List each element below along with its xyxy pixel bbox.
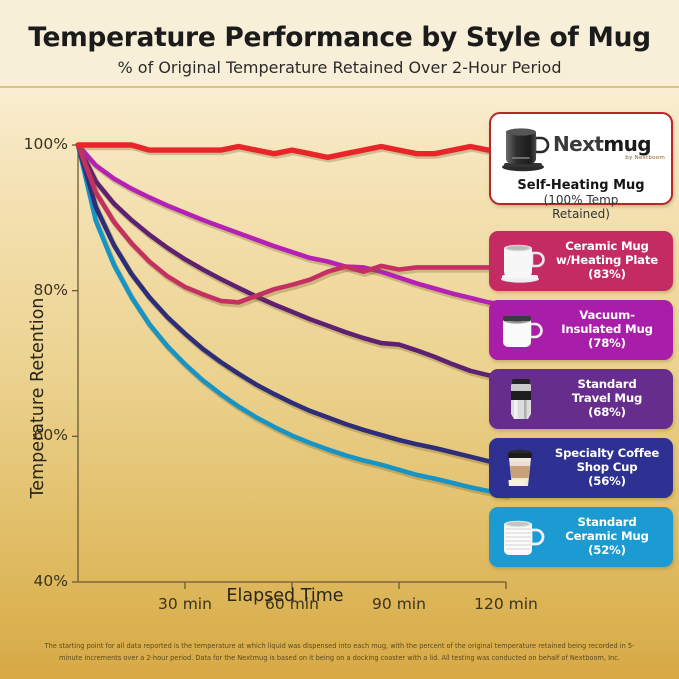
legend-pct-3: (56%) <box>548 475 666 489</box>
nextmug-wordmark: Nextmug <box>553 134 665 154</box>
legend-pct-0: (83%) <box>548 268 666 282</box>
legend-item-nextmug[interactable]: Nextmug by Nextboom Self-Heating Mug (10… <box>489 112 673 205</box>
legend-panel: Nextmug by Nextboom Self-Heating Mug (10… <box>489 112 673 576</box>
x-axis-title: Elapsed Time <box>60 586 510 606</box>
series-line-1 <box>78 145 506 302</box>
y-axis-title: Temperature Retention <box>28 288 48 508</box>
legend-line1-4: Standard <box>548 516 666 530</box>
paper-coffee-cup-icon <box>496 444 548 492</box>
page-subtitle: % of Original Temperature Retained Over … <box>0 58 679 77</box>
legend-line1-0: Ceramic Mug <box>548 240 666 254</box>
series-line-3 <box>78 145 506 378</box>
legend-line2-4: Ceramic Mug <box>548 530 666 544</box>
black-self-heating-mug-icon <box>497 119 553 175</box>
chart-series-lines <box>78 145 508 497</box>
legend-chip-list: Ceramic Mugw/Heating Plate(83%) Vacuum-I… <box>489 231 673 567</box>
legend-item-1[interactable]: Vacuum-Insulated Mug(78%) <box>489 300 673 360</box>
legend-label-4: StandardCeramic Mug(52%) <box>548 516 666 557</box>
ribbed-ceramic-mug-icon <box>496 513 548 561</box>
legend-line1-3: Specialty Coffee <box>548 447 666 461</box>
legend-label-0: Ceramic Mugw/Heating Plate(83%) <box>548 240 666 281</box>
white-ceramic-mug-on-plate-icon <box>496 237 548 285</box>
header-banner: Temperature Performance by Style of Mug … <box>0 0 679 88</box>
legend-pct-1: (78%) <box>548 337 666 351</box>
y-tick-100: 100% <box>0 135 68 153</box>
legend-line2-1: Insulated Mug <box>548 323 666 337</box>
vacuum-insulated-mug-icon <box>496 306 548 354</box>
legend-line2-3: Shop Cup <box>548 461 666 475</box>
legend-line1-1: Vacuum- <box>548 309 666 323</box>
legend-item-2[interactable]: StandardTravel Mug(68%) <box>489 369 673 429</box>
y-tick-40: 40% <box>0 572 68 590</box>
series-line-2 <box>78 145 506 305</box>
legend-label-nextmug: Self-Heating Mug <box>517 178 644 193</box>
chart-axes <box>72 145 506 589</box>
legend-item-0[interactable]: Ceramic Mugw/Heating Plate(83%) <box>489 231 673 291</box>
footnote-text: The starting point for all data reported… <box>34 640 645 664</box>
legend-sub-nextmug-line2: Retained) <box>552 208 610 221</box>
legend-line2-2: Travel Mug <box>548 392 666 406</box>
infographic-root: Temperature Performance by Style of Mug … <box>0 0 679 679</box>
legend-item-4[interactable]: StandardCeramic Mug(52%) <box>489 507 673 567</box>
legend-line1-2: Standard <box>548 378 666 392</box>
legend-pct-4: (52%) <box>548 544 666 558</box>
legend-item-3[interactable]: Specialty CoffeeShop Cup(56%) <box>489 438 673 498</box>
legend-pct-2: (68%) <box>548 406 666 420</box>
legend-label-3: Specialty CoffeeShop Cup(56%) <box>548 447 666 488</box>
legend-line2-0: w/Heating Plate <box>548 254 666 268</box>
legend-label-1: Vacuum-Insulated Mug(78%) <box>548 309 666 350</box>
legend-sub-nextmug-line1: (100% Temp <box>544 194 619 207</box>
steel-travel-mug-icon <box>496 375 548 423</box>
page-title: Temperature Performance by Style of Mug <box>0 22 679 53</box>
legend-label-2: StandardTravel Mug(68%) <box>548 378 666 419</box>
